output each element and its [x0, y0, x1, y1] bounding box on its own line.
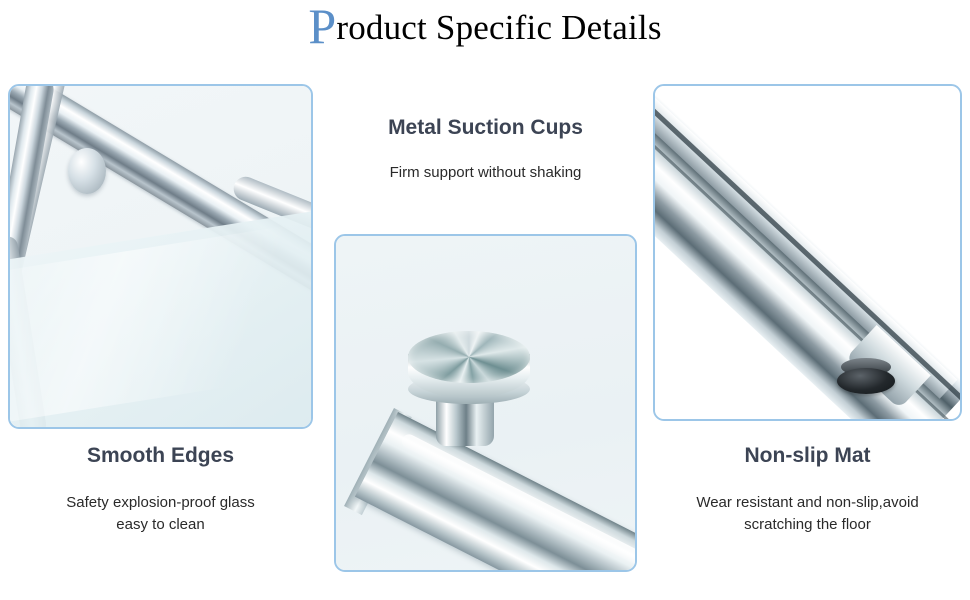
feature-body-line1-non-slip-mat: Wear resistant and non-slip,avoid: [653, 492, 962, 514]
chrome-leg-rubber-foot-photo: [655, 86, 960, 419]
page-title-dropcap: P: [308, 0, 336, 54]
feature-title-non-slip-mat: Non-slip Mat: [653, 444, 962, 468]
page-title-rest: roduct Specific Details: [336, 8, 661, 47]
feature-body-line1-smooth-edges: Safety explosion-proof glass: [8, 492, 313, 514]
feature-photo-panel-metal-suction-cups: [334, 234, 637, 572]
metal-suction-cup-photo: [336, 236, 635, 570]
glass-table-corner-photo: [10, 86, 311, 427]
feature-photo-panel-non-slip-mat: [653, 84, 962, 421]
feature-photo-panel-smooth-edges: [8, 84, 313, 429]
feature-caption-non-slip-mat: Non-slip Mat Wear resistant and non-slip…: [653, 444, 962, 536]
suction-cup-disc-icon: [408, 331, 530, 383]
page-title: Product Specific Details: [0, 8, 970, 48]
chrome-knob-icon: [68, 148, 106, 194]
feature-body-line1-metal-suction-cups: Firm support without shaking: [334, 162, 637, 184]
feature-caption-metal-suction-cups: Metal Suction Cups Firm support without …: [334, 116, 637, 184]
feature-title-smooth-edges: Smooth Edges: [8, 444, 313, 468]
feature-body-line2-non-slip-mat: scratching the floor: [653, 514, 962, 536]
rubber-foot-icon: [837, 368, 895, 394]
feature-caption-smooth-edges: Smooth Edges Safety explosion-proof glas…: [8, 444, 313, 536]
feature-body-line2-smooth-edges: easy to clean: [8, 514, 313, 536]
feature-title-metal-suction-cups: Metal Suction Cups: [334, 116, 637, 140]
